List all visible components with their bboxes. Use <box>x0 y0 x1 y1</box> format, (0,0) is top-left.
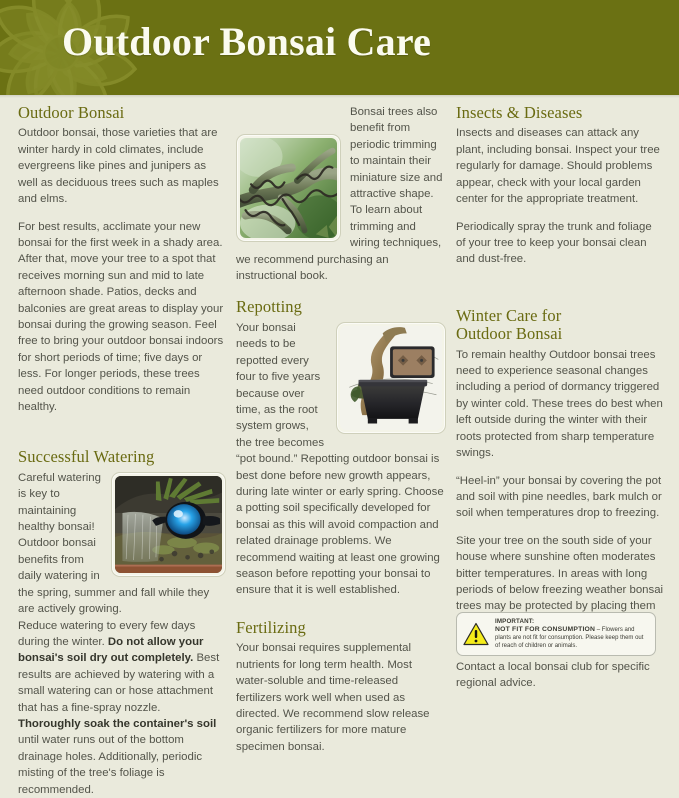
warning-triangle-icon <box>463 622 489 646</box>
page-header: Outdoor Bonsai Care <box>0 0 679 95</box>
paragraph-winter-4: Contact a local bonsai club for specific… <box>456 659 664 692</box>
repotting-block: Your bonsai needs to be repotted every f… <box>236 320 446 599</box>
paragraph-outdoor-bonsai-2: For best results, acclimate your new bon… <box>18 219 226 416</box>
section-heading-winter-care: Winter Care forOutdoor Bonsai <box>456 307 664 344</box>
paragraph-outdoor-bonsai-1: Outdoor bonsai, those varieties that are… <box>18 125 226 207</box>
section-heading-insects-diseases: Insects & Diseases <box>456 104 664 122</box>
column-middle: Bonsai trees also benefit from periodic … <box>236 104 446 755</box>
repotting-pot-photo <box>336 322 446 434</box>
paragraph-watering-rich: Reduce watering to every few days during… <box>18 618 226 798</box>
paragraph-winter-1: To remain healthy Outdoor bonsai trees n… <box>456 347 664 462</box>
winter-care-heading-line2: Outdoor Bonsai <box>456 324 562 343</box>
column-left: Outdoor Bonsai Outdoor bonsai, those var… <box>18 104 226 798</box>
wired-branch-photo <box>236 134 341 242</box>
paragraph-insects-2: Periodically spray the trunk and foliage… <box>456 219 664 268</box>
section-heading-fertilizing: Fertilizing <box>236 619 446 637</box>
winter-care-heading-line1: Winter Care for <box>456 306 561 325</box>
section-heading-outdoor-bonsai: Outdoor Bonsai <box>18 104 226 122</box>
section-heading-successful-watering: Successful Watering <box>18 448 226 466</box>
section-heading-repotting: Repotting <box>236 298 446 316</box>
paragraph-fertilizing: Your bonsai requires supplemental nutrie… <box>236 640 446 755</box>
trimming-block: Bonsai trees also benefit from periodic … <box>236 104 446 284</box>
page-title: Outdoor Bonsai Care <box>62 18 431 65</box>
content-columns: Outdoor Bonsai Outdoor bonsai, those var… <box>0 104 679 679</box>
column-right: Insects & Diseases Insects and diseases … <box>456 104 664 702</box>
watering-block: Careful watering is key to maintaining h… <box>18 470 226 618</box>
watering-text-bold2: Thoroughly soak the container's soil <box>18 718 216 730</box>
watering-nozzle-photo <box>111 472 226 577</box>
page-root: Outdoor Bonsai Care Outdoor Bonsai Outdo… <box>0 0 679 679</box>
warning-box: IMPORTANT: NOT FIT FOR CONSUMPTION – Flo… <box>456 612 656 656</box>
watering-text-part3: until water runs out of the bottom drain… <box>18 734 202 795</box>
paragraph-winter-2: “Heel-in” your bonsai by covering the po… <box>456 473 664 522</box>
warning-text: IMPORTANT: NOT FIT FOR CONSUMPTION – Flo… <box>495 618 648 650</box>
paragraph-insects-1: Insects and diseases can attack any plan… <box>456 125 664 207</box>
header-divider <box>0 95 679 98</box>
warning-line1: IMPORTANT: <box>495 618 534 625</box>
warning-line2-bold: NOT FIT FOR CONSUMPTION <box>495 626 595 633</box>
